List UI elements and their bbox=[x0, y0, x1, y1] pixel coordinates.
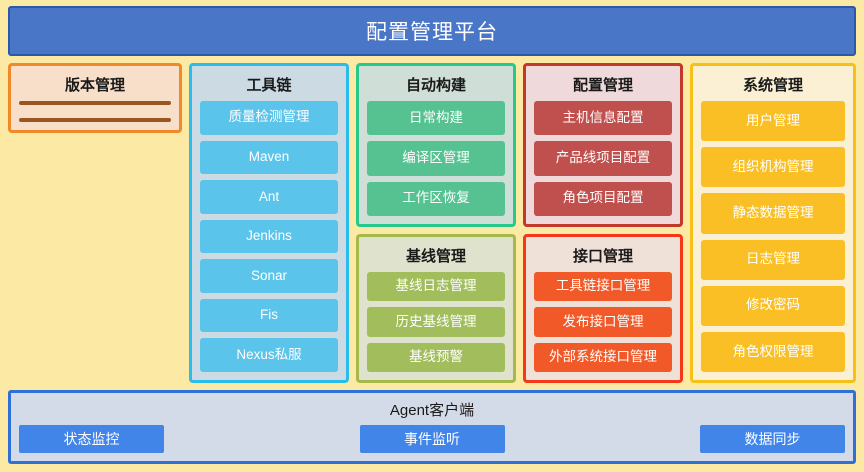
system-item-user[interactable]: 用户管理 bbox=[701, 101, 845, 141]
auto-build-item-workspace-restore[interactable]: 工作区恢复 bbox=[367, 182, 505, 216]
system-item-change-password[interactable]: 修改密码 bbox=[701, 286, 845, 326]
baseline-item-log[interactable]: 基线日志管理 bbox=[367, 272, 505, 301]
agent-client-title: Agent客户端 bbox=[19, 396, 845, 425]
agent-button-status-monitor[interactable]: 状态监控 bbox=[19, 425, 164, 453]
panel-title-interface-management: 接口管理 bbox=[534, 241, 672, 272]
interface-item-toolchain[interactable]: 工具链接口管理 bbox=[534, 272, 672, 301]
panel-body-interface-management: 工具链接口管理 发布接口管理 外部系统接口管理 bbox=[534, 272, 672, 372]
panel-body-baseline-management: 基线日志管理 历史基线管理 基线预警 bbox=[367, 272, 505, 372]
panel-body-auto-build: 日常构建 编译区管理 工作区恢复 bbox=[367, 101, 505, 216]
panel-toolchain: 工具链 质量检测管理 Maven Ant Jenkins Sonar Fis N… bbox=[189, 63, 349, 383]
system-item-organization[interactable]: 组织机构管理 bbox=[701, 147, 845, 187]
auto-build-item-compile-area[interactable]: 编译区管理 bbox=[367, 141, 505, 175]
version-group-item[interactable]: 生产版本管理 bbox=[21, 121, 169, 122]
system-item-static-data[interactable]: 静态数据管理 bbox=[701, 193, 845, 233]
toolchain-item-quality[interactable]: 质量检测管理 bbox=[200, 101, 338, 135]
version-group-header[interactable]: GIT版本库管理 bbox=[21, 120, 169, 121]
toolchain-item-maven[interactable]: Maven bbox=[200, 141, 338, 175]
column-toolchain: 工具链 质量检测管理 Maven Ant Jenkins Sonar Fis N… bbox=[189, 63, 349, 383]
panel-body-toolchain: 质量检测管理 Maven Ant Jenkins Sonar Fis Nexus… bbox=[200, 101, 338, 372]
config-item-product-line[interactable]: 产品线项目配置 bbox=[534, 141, 672, 175]
agent-client-panel: Agent客户端 状态监控 事件监听 数据同步 bbox=[8, 390, 856, 464]
toolchain-item-fis[interactable]: Fis bbox=[200, 299, 338, 333]
panel-system-management: 系统管理 用户管理 组织机构管理 静态数据管理 日志管理 修改密码 角色权限管理 bbox=[690, 63, 856, 383]
panel-body-system-management: 用户管理 组织机构管理 静态数据管理 日志管理 修改密码 角色权限管理 bbox=[701, 101, 845, 372]
panel-title-version-management: 版本管理 bbox=[19, 70, 171, 101]
panel-title-config-management: 配置管理 bbox=[534, 70, 672, 101]
panel-interface-management: 接口管理 工具链接口管理 发布接口管理 外部系统接口管理 bbox=[523, 234, 683, 383]
panel-title-auto-build: 自动构建 bbox=[367, 70, 505, 101]
page-header: 配置管理平台 bbox=[8, 6, 856, 56]
toolchain-item-jenkins[interactable]: Jenkins bbox=[200, 220, 338, 254]
baseline-item-alert[interactable]: 基线预警 bbox=[367, 343, 505, 372]
version-group: GIT版本库管理 生产版本管理 测试版本管理 开发版本管理 bbox=[19, 101, 171, 105]
panel-baseline-management: 基线管理 基线日志管理 历史基线管理 基线预警 bbox=[356, 234, 516, 383]
panel-body-config-management: 主机信息配置 产品线项目配置 角色项目配置 bbox=[534, 101, 672, 216]
panel-auto-build: 自动构建 日常构建 编译区管理 工作区恢复 bbox=[356, 63, 516, 227]
panel-version-management: 版本管理 GIT版本库管理 生产版本管理 测试版本管理 开发版本管理 GIT版本… bbox=[8, 63, 182, 133]
columns-container: 版本管理 GIT版本库管理 生产版本管理 测试版本管理 开发版本管理 GIT版本… bbox=[8, 63, 856, 383]
interface-item-external-system[interactable]: 外部系统接口管理 bbox=[534, 343, 672, 372]
version-group: GIT版本库管理 生产版本管理 测试版本管理 开发版本管理 bbox=[19, 118, 171, 122]
toolchain-item-ant[interactable]: Ant bbox=[200, 180, 338, 214]
toolchain-item-nexus[interactable]: Nexus私服 bbox=[200, 338, 338, 372]
version-group-item[interactable]: 生产版本管理 bbox=[21, 104, 169, 105]
system-item-log[interactable]: 日志管理 bbox=[701, 240, 845, 280]
version-group-header[interactable]: GIT版本库管理 bbox=[21, 103, 169, 104]
panel-title-toolchain: 工具链 bbox=[200, 70, 338, 101]
panel-title-baseline-management: 基线管理 bbox=[367, 241, 505, 272]
interface-item-release[interactable]: 发布接口管理 bbox=[534, 307, 672, 336]
column-system-management: 系统管理 用户管理 组织机构管理 静态数据管理 日志管理 修改密码 角色权限管理 bbox=[690, 63, 856, 383]
auto-build-item-daily[interactable]: 日常构建 bbox=[367, 101, 505, 135]
column-auto-build: 自动构建 日常构建 编译区管理 工作区恢复 基线管理 基线日志管理 历史基线管理… bbox=[356, 63, 516, 383]
toolchain-item-sonar[interactable]: Sonar bbox=[200, 259, 338, 293]
agent-button-data-sync[interactable]: 数据同步 bbox=[700, 425, 845, 453]
panel-config-management: 配置管理 主机信息配置 产品线项目配置 角色项目配置 bbox=[523, 63, 683, 227]
agent-button-event-listener[interactable]: 事件监听 bbox=[360, 425, 505, 453]
baseline-item-history[interactable]: 历史基线管理 bbox=[367, 307, 505, 336]
panel-body-version-management: GIT版本库管理 生产版本管理 测试版本管理 开发版本管理 GIT版本库管理 生… bbox=[19, 101, 171, 122]
page-title: 配置管理平台 bbox=[366, 16, 498, 46]
panel-title-system-management: 系统管理 bbox=[701, 70, 845, 101]
system-item-role-permission[interactable]: 角色权限管理 bbox=[701, 332, 845, 372]
column-config-management: 配置管理 主机信息配置 产品线项目配置 角色项目配置 接口管理 工具链接口管理 … bbox=[523, 63, 683, 383]
config-item-role-project[interactable]: 角色项目配置 bbox=[534, 182, 672, 216]
column-version-management: 版本管理 GIT版本库管理 生产版本管理 测试版本管理 开发版本管理 GIT版本… bbox=[8, 63, 182, 383]
agent-client-buttons: 状态监控 事件监听 数据同步 bbox=[19, 425, 845, 453]
config-item-host-info[interactable]: 主机信息配置 bbox=[534, 101, 672, 135]
